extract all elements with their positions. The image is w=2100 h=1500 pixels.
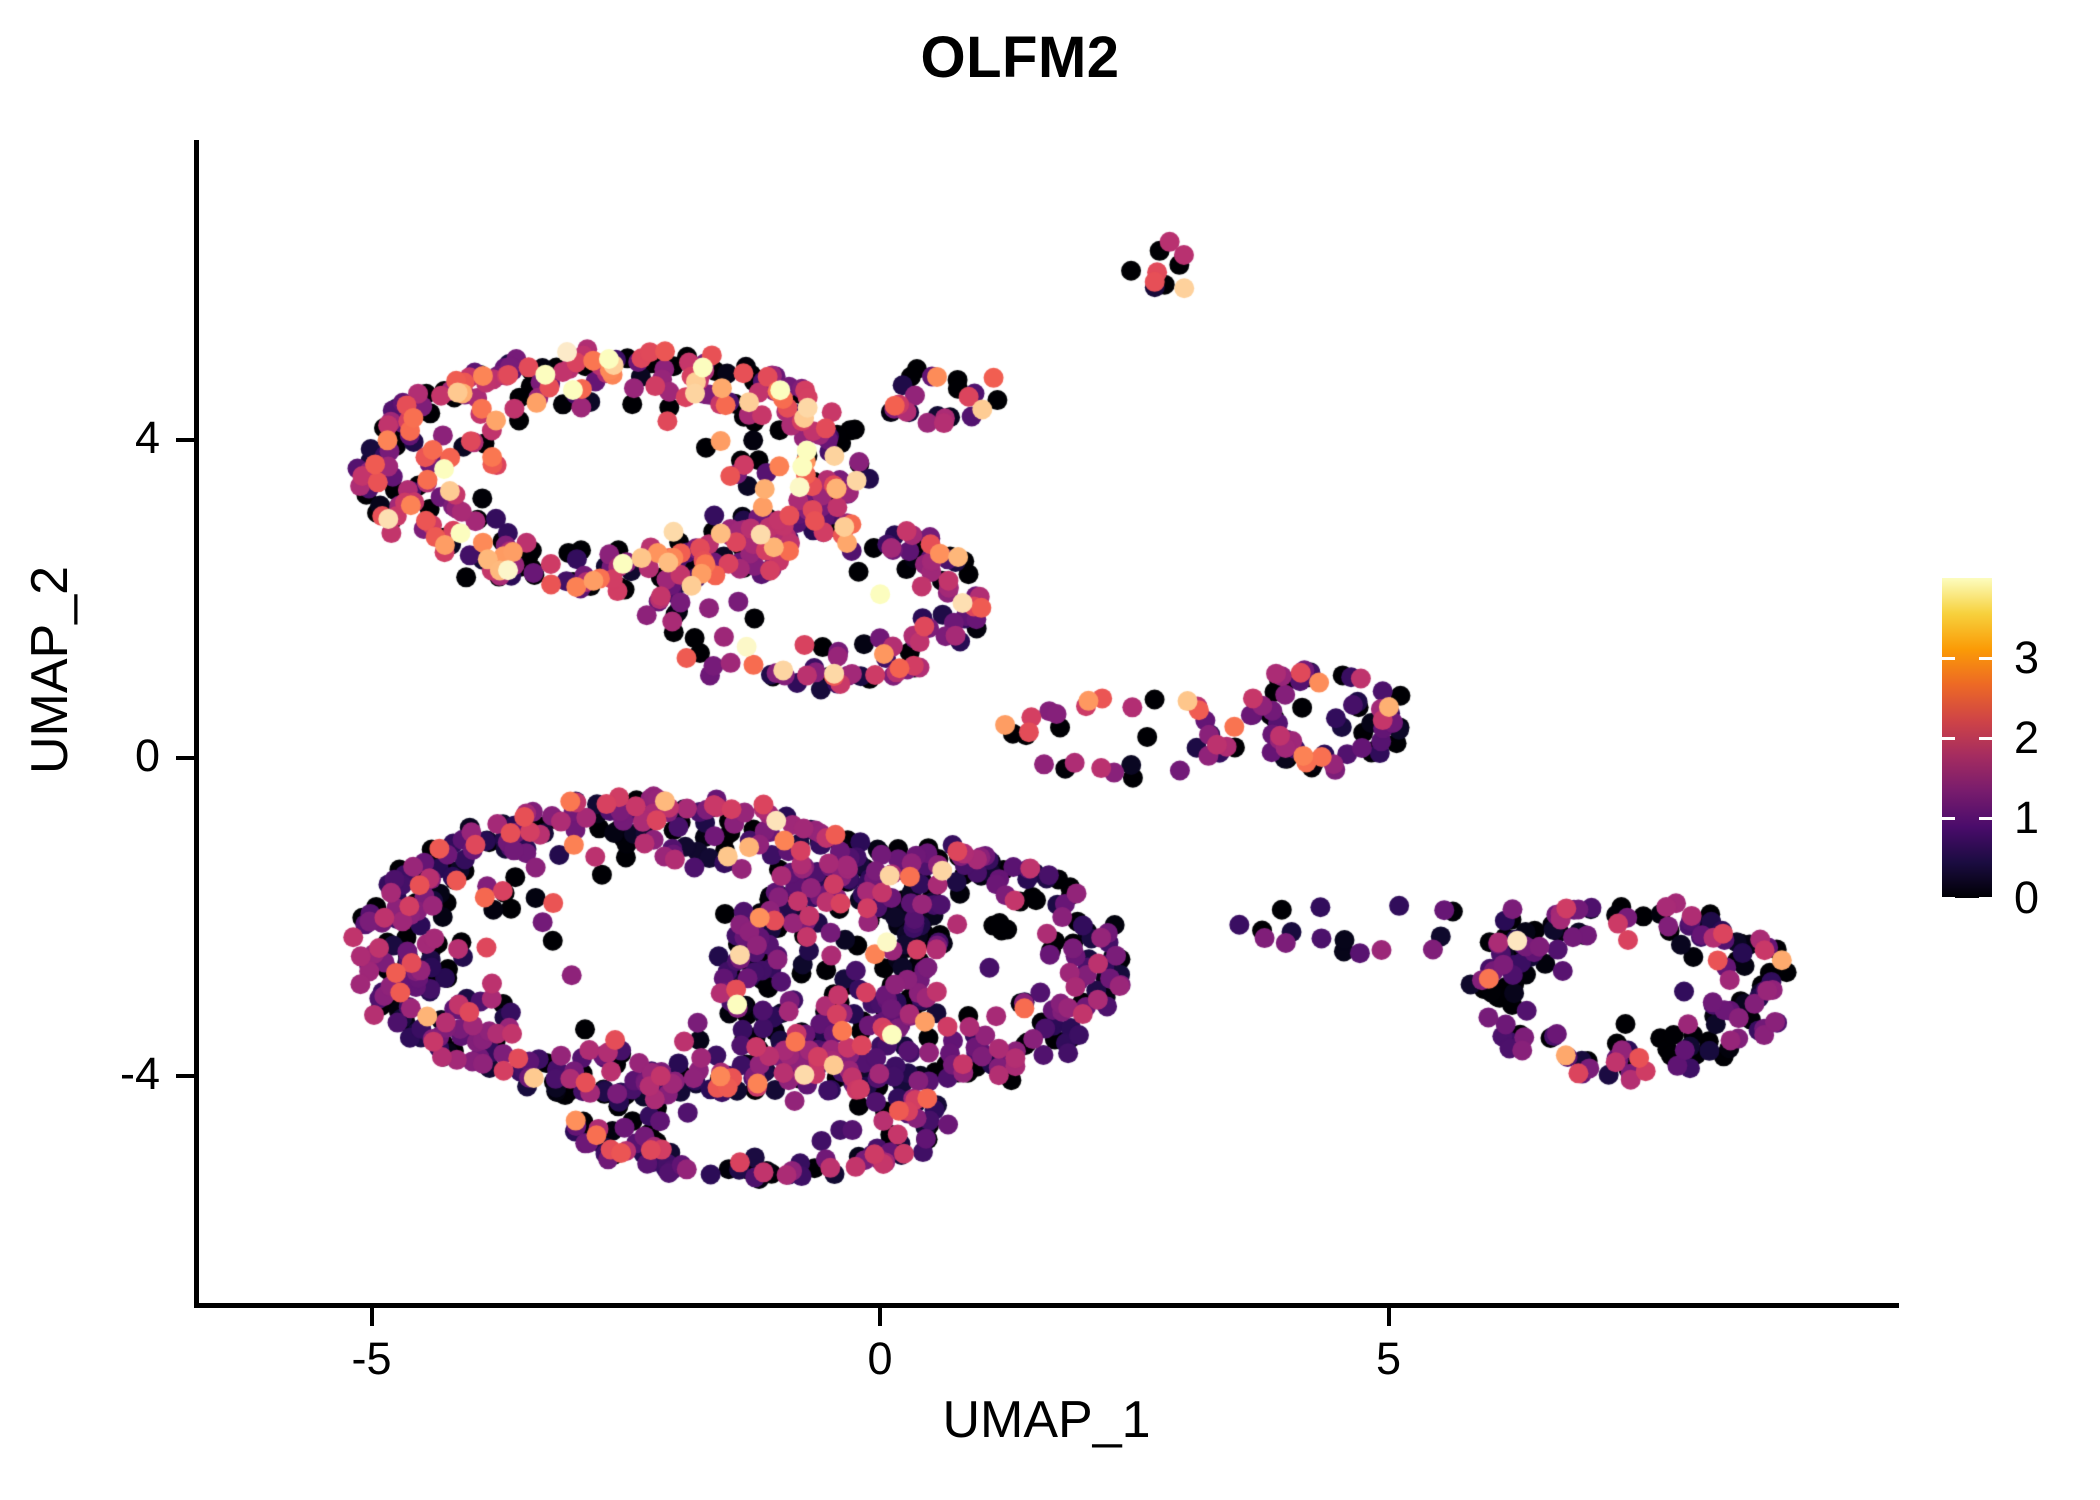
y-tick-label: -4 — [40, 1048, 160, 1100]
x-tick-mark — [878, 1308, 882, 1326]
y-tick-label: 4 — [40, 412, 160, 464]
x-tick-label: 5 — [1309, 1333, 1469, 1385]
x-tick-mark — [1387, 1308, 1391, 1326]
x-tick-mark — [370, 1308, 374, 1326]
x-tick-label: -5 — [292, 1333, 452, 1385]
x-axis-label: UMAP_1 — [194, 1390, 1899, 1450]
y-axis-label: UMAP_2 — [20, 460, 80, 880]
y-tick-mark — [176, 438, 194, 442]
colorbar-tick-mark — [1979, 897, 1992, 900]
x-tick-label: 0 — [800, 1333, 960, 1385]
colorbar-tick-mark — [1942, 737, 1955, 740]
y-tick-mark — [176, 1074, 194, 1078]
colorbar-tick-mark — [1979, 817, 1992, 820]
colorbar-legend: 3210 — [1942, 578, 1992, 898]
colorbar-tick-label: 3 — [2014, 632, 2039, 684]
colorbar-tick-label: 0 — [2014, 872, 2039, 924]
y-tick-mark — [176, 756, 194, 760]
colorbar-tick-mark — [1942, 817, 1955, 820]
colorbar-tick-label: 1 — [2014, 792, 2039, 844]
scatter-plot-area — [194, 140, 1899, 1308]
colorbar-tick-mark — [1942, 897, 1955, 900]
colorbar-tick-mark — [1979, 737, 1992, 740]
colorbar-tick-mark — [1942, 657, 1955, 660]
scatter-points-canvas — [194, 140, 1899, 1308]
chart-title: OLFM2 — [0, 24, 2070, 91]
colorbar-tick-label: 2 — [2014, 712, 2039, 764]
colorbar-tick-mark — [1979, 657, 1992, 660]
figure-root: OLFM2 40-4 -505 UMAP_1 UMAP_2 3210 — [0, 0, 2100, 1500]
